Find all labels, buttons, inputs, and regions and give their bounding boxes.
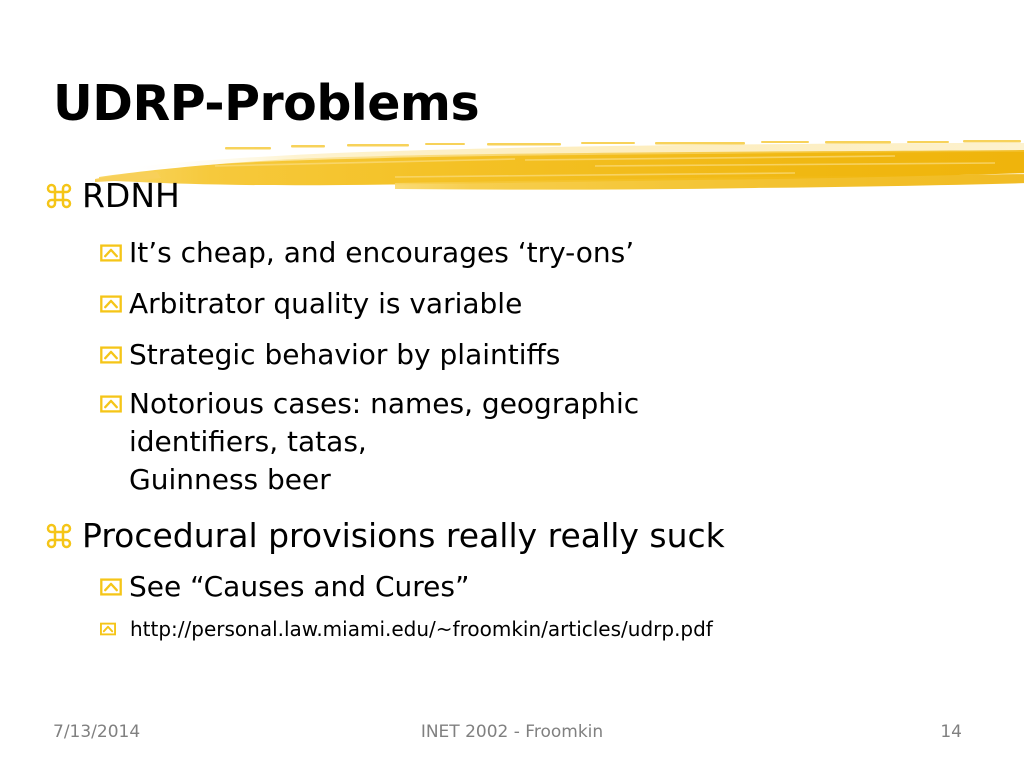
- list-item-text-line2: Guinness beer: [129, 461, 789, 499]
- list-item-level1: Procedural provisions really really suck: [44, 514, 996, 558]
- command-bullet-icon: [44, 514, 82, 558]
- footer-page-number: 14: [940, 722, 962, 742]
- boxed-chevron-bullet-icon: [100, 285, 129, 323]
- list-item-level2: It’s cheap, and encourages ‘try-ons’: [100, 234, 996, 272]
- page-title: UDRP-Problems: [53, 78, 479, 131]
- boxed-chevron-bullet-icon: [100, 234, 129, 272]
- slide-canvas: UDRP-Problems: [0, 0, 1024, 768]
- spacer: [44, 272, 996, 285]
- list-item-text: See “Causes and Cures”: [129, 568, 469, 606]
- spacer: [44, 374, 996, 385]
- command-bullet-icon: [44, 174, 82, 218]
- boxed-chevron-bullet-icon: [100, 614, 130, 644]
- list-item-level2: Notorious cases: names, geographic ident…: [100, 385, 996, 499]
- list-item-level2: Arbitrator quality is variable: [100, 285, 996, 323]
- boxed-chevron-bullet-icon: [100, 568, 129, 606]
- list-item-text: Strategic behavior by plaintiffs: [129, 336, 560, 374]
- list-item-level2: See “Causes and Cures”: [100, 568, 996, 606]
- spacer: [44, 323, 996, 336]
- list-item-level3: http://personal.law.miami.edu/~froomkin/…: [100, 614, 996, 644]
- spacer: [44, 219, 996, 234]
- slide-body: RDNH It’s cheap, and encourages ‘try-ons…: [44, 174, 996, 644]
- footer-center-text: INET 2002 - Froomkin: [0, 722, 1024, 742]
- list-item-text: RDNH: [82, 174, 180, 218]
- list-item-text: Notorious cases: names, geographic ident…: [129, 385, 789, 461]
- boxed-chevron-bullet-icon: [100, 385, 129, 423]
- slide-footer: 7/13/2014 INET 2002 - Froomkin 14: [0, 722, 1024, 752]
- url-text[interactable]: http://personal.law.miami.edu/~froomkin/…: [130, 614, 713, 644]
- list-item-text: It’s cheap, and encourages ‘try-ons’: [129, 234, 634, 272]
- list-item-text: Procedural provisions really really suck: [82, 514, 725, 558]
- list-item-level2: Strategic behavior by plaintiffs: [100, 336, 996, 374]
- spacer: [44, 606, 996, 614]
- spacer: [44, 559, 996, 568]
- list-item-text: Arbitrator quality is variable: [129, 285, 522, 323]
- boxed-chevron-bullet-icon: [100, 336, 129, 374]
- list-item-level1: RDNH: [44, 174, 996, 218]
- spacer: [44, 499, 996, 514]
